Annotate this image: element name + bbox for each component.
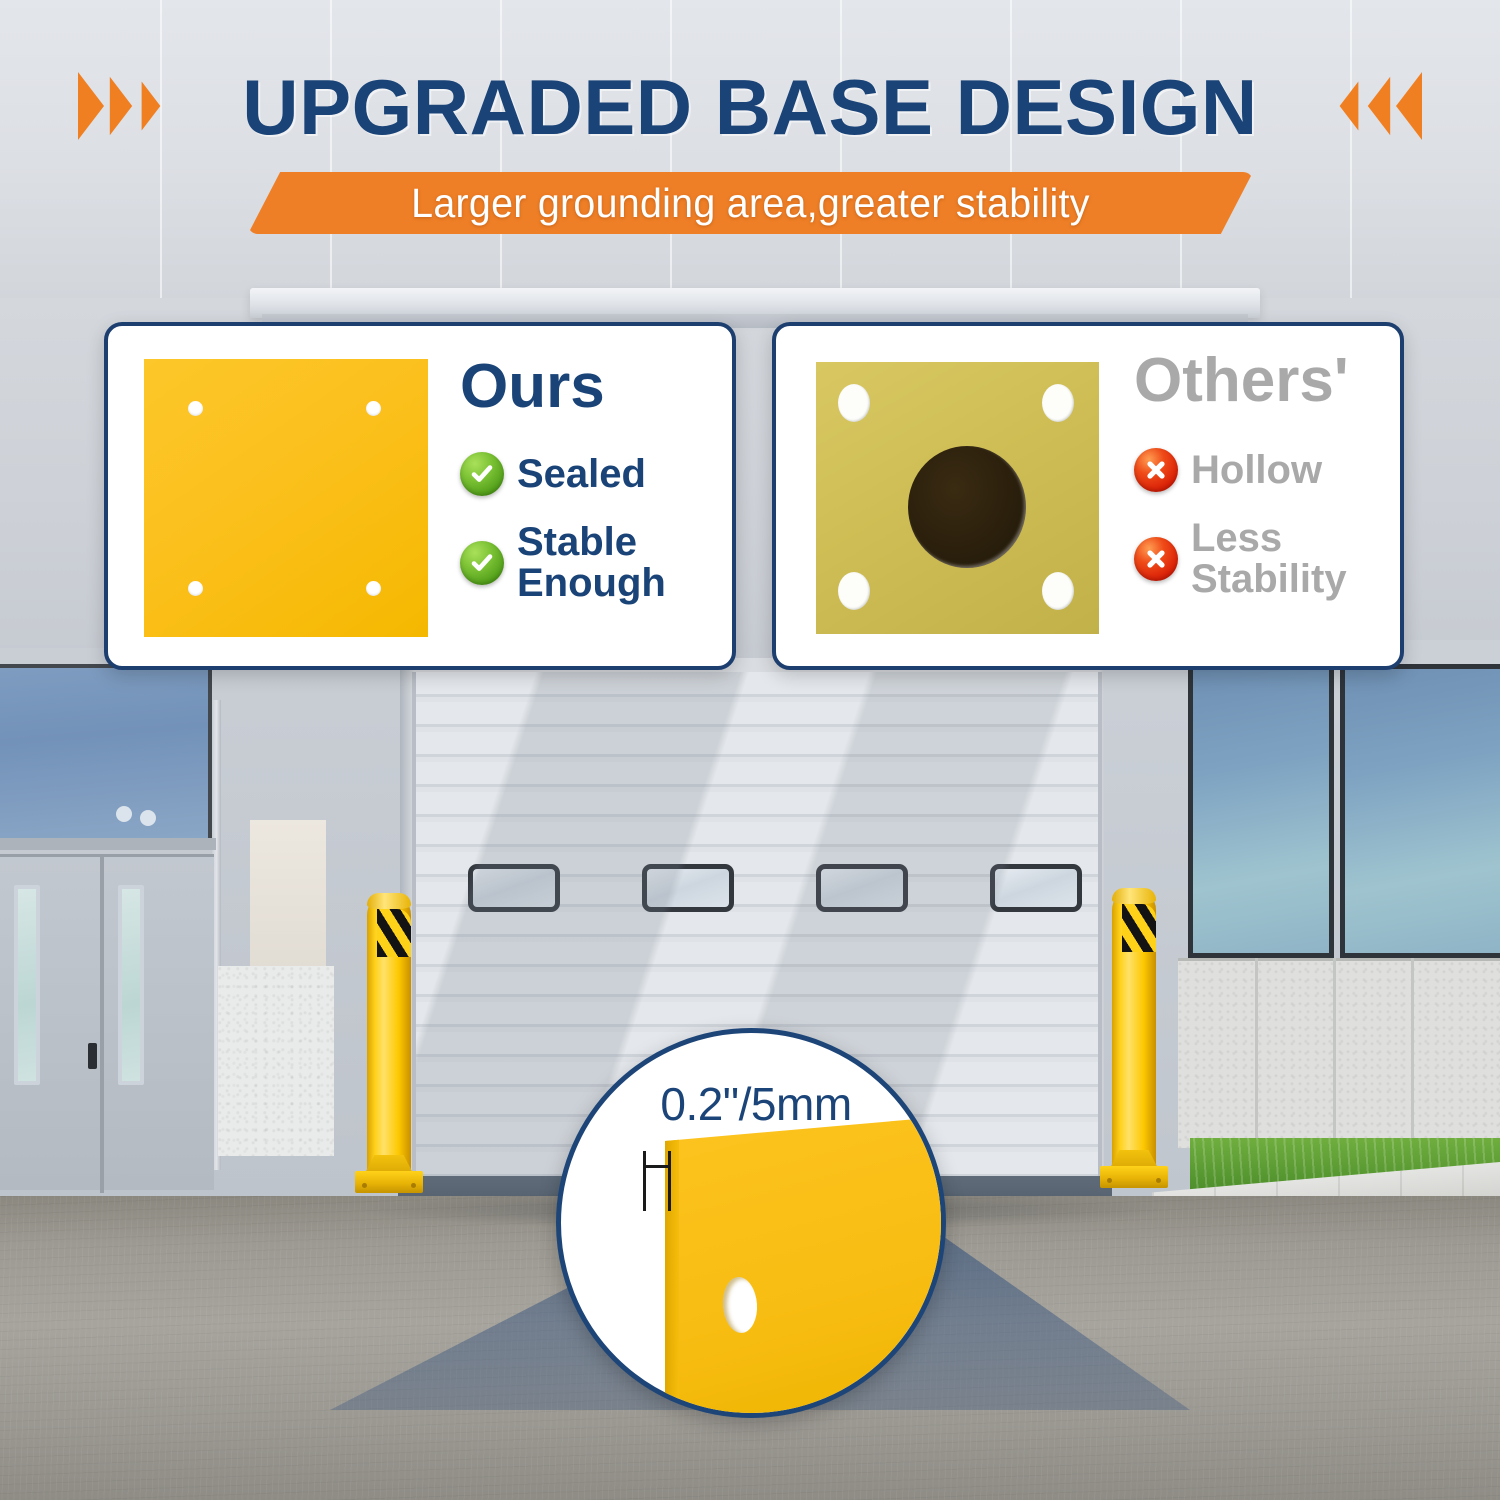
concrete-wall-base: [1178, 958, 1500, 1148]
bollard-base-plate: [1100, 1166, 1168, 1188]
bolt-hole: [838, 384, 870, 422]
storefront-glass-pane: [1340, 664, 1500, 958]
comparison-card-others: Others' Hollow Less Stability: [772, 322, 1404, 670]
infographic-canvas: UPGRADED BASE DESIGN Larger grounding ar…: [0, 0, 1500, 1500]
bolt-hole: [366, 581, 381, 596]
wall-stucco-patch: [218, 966, 334, 1156]
ours-feature-label: Sealed: [517, 454, 646, 495]
subtitle-text: Larger grounding area,greater stability: [411, 180, 1090, 227]
magnified-plate-face: [665, 1111, 946, 1418]
others-heading: Others': [1134, 350, 1349, 412]
bollard-cap: [367, 893, 411, 909]
window-globe: [140, 810, 156, 826]
others-feature-hollow: Hollow: [1134, 448, 1349, 492]
window-globe: [116, 806, 132, 822]
others-feature-label: Less Stability: [1191, 518, 1347, 600]
comparison-card-ours: Ours Sealed Stable Enough: [104, 322, 736, 670]
others-feature-less-stability: Less Stability: [1134, 518, 1349, 600]
window-sill: [0, 838, 216, 850]
bollard-cap: [1112, 888, 1156, 904]
door-handle: [88, 1043, 97, 1069]
ours-feature-label: Stable Enough: [517, 522, 666, 604]
check-circle-icon: [460, 541, 504, 585]
page-title: UPGRADED BASE DESIGN: [0, 62, 1500, 153]
door-window: [816, 864, 908, 912]
bolt-hole: [1042, 384, 1074, 422]
thickness-bracket-icon: [643, 1149, 673, 1211]
door-window: [990, 864, 1082, 912]
subtitle-banner: Larger grounding area,greater stability: [248, 172, 1253, 234]
check-circle-icon: [460, 452, 504, 496]
door-window: [642, 864, 734, 912]
hazard-stripe-icon: [1122, 904, 1156, 952]
concrete-seam: [1411, 958, 1414, 1148]
center-hollow-hole: [908, 446, 1026, 568]
ours-feature-label-line2: Enough: [517, 561, 666, 605]
office-double-door: [0, 854, 214, 1190]
x-circle-icon: [1134, 448, 1178, 492]
ours-heading: Ours: [460, 356, 666, 418]
bolt-hole: [188, 401, 203, 416]
chevron-left-icon: [1340, 82, 1359, 131]
door-window: [468, 864, 560, 912]
storefront-glass-pane: [1188, 664, 1334, 958]
hazard-stripe-icon: [377, 909, 411, 957]
others-base-plate-image: [816, 362, 1099, 634]
chevron-left-icon: [1396, 72, 1422, 140]
bolt-hole: [1042, 572, 1074, 610]
others-feature-label-line1: Less: [1191, 516, 1282, 560]
ours-feature-label-line1: Stable: [517, 520, 637, 564]
concrete-seam: [1255, 958, 1258, 1148]
chevron-left-triple-icon: [1336, 72, 1422, 140]
bollard-base-plate: [355, 1171, 423, 1193]
chevron-left-icon: [1368, 77, 1390, 135]
bolt-hole: [188, 581, 203, 596]
thickness-magnifier-callout: 0.2"/5mm: [556, 1028, 946, 1418]
door-leaf-window: [14, 885, 40, 1085]
others-feature-label: Hollow: [1191, 450, 1322, 491]
ours-feature-sealed: Sealed: [460, 452, 666, 496]
bolt-hole: [366, 401, 381, 416]
thickness-measurement-label: 0.2"/5mm: [561, 1077, 946, 1131]
wall-beige-panel: [250, 820, 326, 968]
bolt-hole: [838, 572, 870, 610]
x-circle-icon: [1134, 537, 1178, 581]
concrete-seam: [1333, 958, 1336, 1148]
ours-feature-stable: Stable Enough: [460, 522, 666, 604]
ours-base-plate-image: [144, 359, 428, 637]
door-center-mullion: [100, 857, 104, 1193]
office-upper-window: [0, 664, 212, 842]
others-feature-label-line2: Stability: [1191, 557, 1347, 601]
door-leaf-window: [118, 885, 144, 1085]
